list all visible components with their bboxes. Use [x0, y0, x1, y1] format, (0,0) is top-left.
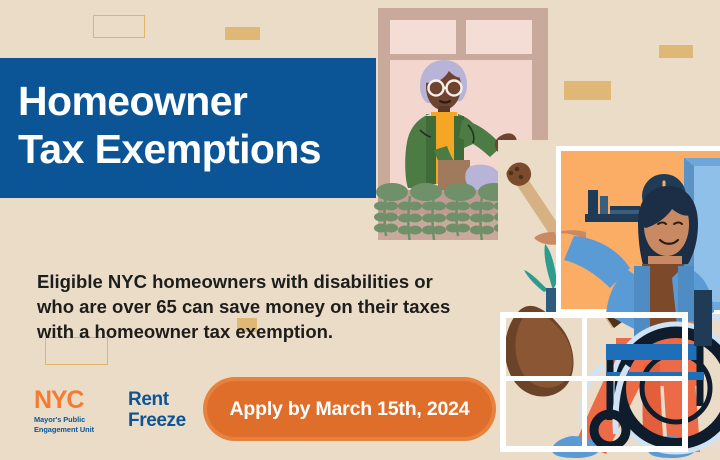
headline-line-2: Tax Exemptions: [18, 125, 321, 173]
homeowner-tax-exemptions-ad: Homeowner Tax Exemptions Eligible NYC ho…: [0, 0, 720, 460]
headline-banner: Homeowner Tax Exemptions: [0, 58, 376, 198]
rent-freeze-line-2: Freeze: [128, 410, 186, 431]
apply-cta-button[interactable]: Apply by March 15th, 2024: [207, 381, 492, 437]
footer-logos: NYC Mayor's Public Engagement Unit Rent …: [34, 388, 186, 434]
deco-rect-fill-mid-right: [564, 81, 611, 100]
nyc-wordmark: NYC: [34, 388, 110, 413]
nyc-sub-line-1: Mayor's Public: [34, 415, 110, 425]
deco-rect-fill-top-right: [659, 45, 693, 58]
headline-line-1: Homeowner: [18, 77, 321, 125]
rent-freeze-logo[interactable]: Rent Freeze: [128, 389, 186, 431]
deco-rect-outline-top: [93, 15, 145, 38]
nyc-sub-line-2: Engagement Unit: [34, 425, 110, 435]
nyc-mayors-public-engagement-unit-logo[interactable]: NYC Mayor's Public Engagement Unit: [34, 388, 110, 434]
wheelchair-person-illustration: [498, 140, 720, 460]
body-paragraph: Eligible NYC homeowners with disabilitie…: [37, 269, 467, 344]
rent-freeze-line-1: Rent: [128, 389, 186, 410]
deco-rect-fill-top: [225, 27, 260, 40]
